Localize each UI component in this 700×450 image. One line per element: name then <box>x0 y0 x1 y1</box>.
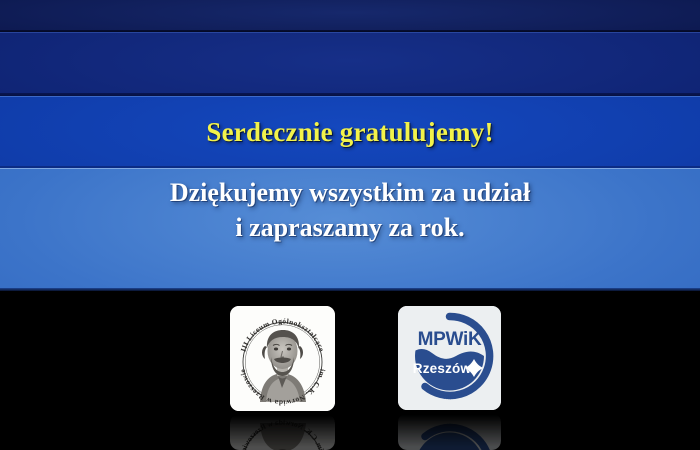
logo-mpwik-city: Rzeszów <box>413 361 472 376</box>
logo-school-emblem-svg: III Liceum Ogólnokształcące im. C.K. Nor… <box>230 306 335 411</box>
logo-mpwik-card: MPWiK Rzeszów Rok zał. 1934 <box>398 306 501 410</box>
logo-mpwik: MPWiK Rzeszów Rok zał. 1934 <box>398 306 501 410</box>
logo-mpwik-emblem-svg: MPWiK Rzeszów Rok zał. 1934 <box>398 306 501 410</box>
slide-body-text: Dziękujemy wszystkim za udział i zaprasz… <box>0 176 700 245</box>
presentation-slide: Serdecznie gratulujemy! Dziękujemy wszys… <box>0 0 700 450</box>
background-band-navy <box>0 32 700 96</box>
body-line-2: i zapraszamy za rok. <box>0 211 700 246</box>
logo-school-card: III Liceum Ogólnokształcące im. C.K. Nor… <box>230 306 335 411</box>
background-band-black <box>0 291 700 450</box>
logo-school: III Liceum Ogólnokształcące im. C.K. Nor… <box>230 306 335 411</box>
body-line-1: Dziękujemy wszystkim za udział <box>0 176 700 211</box>
background-band-dark-navy <box>0 0 700 32</box>
logo-mpwik-wordmark: MPWiK <box>418 329 482 350</box>
slide-title: Serdecznie gratulujemy! <box>0 96 700 168</box>
